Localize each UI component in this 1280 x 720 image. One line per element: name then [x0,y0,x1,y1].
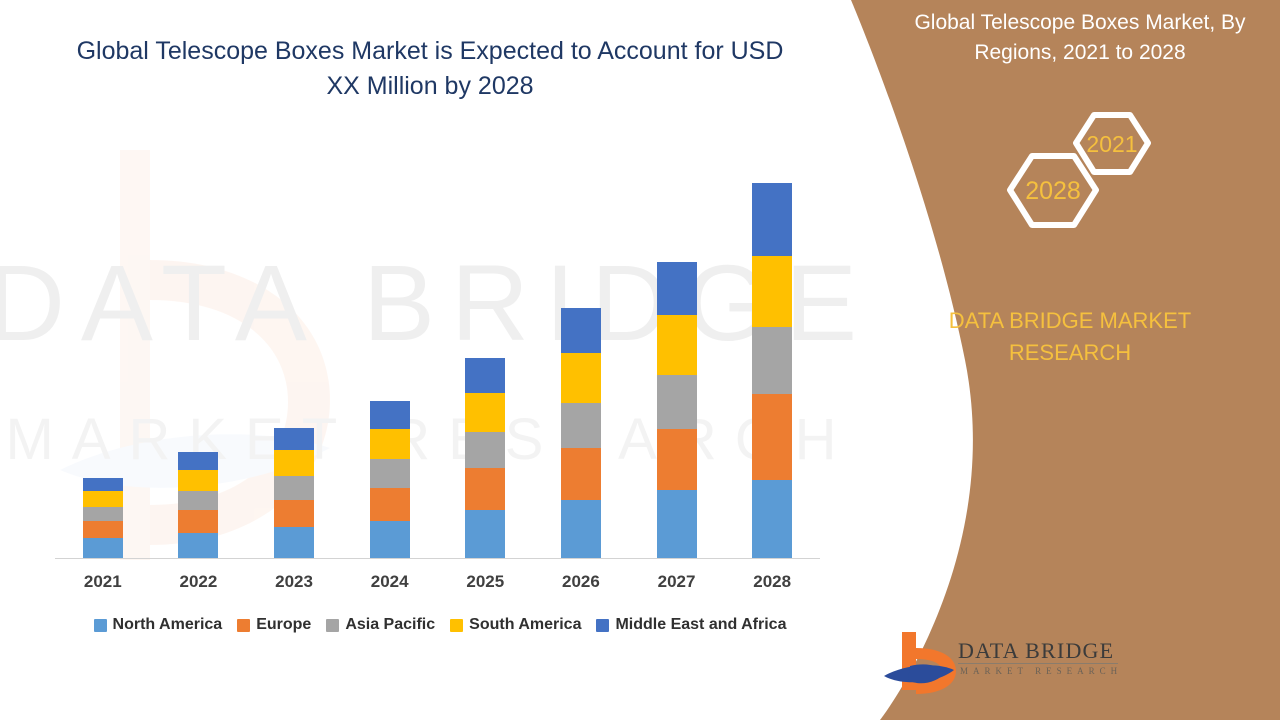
bar-segment [83,491,123,507]
bar-segment [657,490,697,558]
bar-column [342,150,437,558]
legend-label: Middle East and Africa [615,616,786,634]
legend-item[interactable]: South America [450,616,581,634]
bar-column [55,150,150,558]
bar-segment [752,327,792,394]
x-axis-label: 2024 [342,572,437,592]
bar-segment [657,429,697,490]
x-axis-label: 2023 [247,572,342,592]
bar-segment [561,448,601,500]
bar-column [629,150,724,558]
bar-segment [370,488,410,521]
legend-swatch-icon [596,619,609,632]
x-axis-label: 2022 [151,572,246,592]
legend-label: South America [469,616,581,634]
legend-swatch-icon [237,619,250,632]
bar-segment [465,510,505,558]
bar-segment [83,478,123,491]
legend-label: North America [113,616,223,634]
bar-segment [561,308,601,353]
bar-segment [561,500,601,558]
stacked-bar-2023 [274,428,314,558]
bar-segment [370,401,410,428]
bar-segment [178,510,218,533]
bar-segment [657,315,697,375]
bar-segment [83,521,123,538]
bar-column [533,150,628,558]
x-axis-label: 2028 [725,572,820,592]
stacked-bar-2027 [657,262,697,558]
bar-segment [465,432,505,469]
right-panel-title: Global Telescope Boxes Market, By Region… [880,0,1280,69]
bar-segment [274,428,314,451]
bar-column [247,150,342,558]
legend-item[interactable]: Asia Pacific [326,616,435,634]
hexagon-2021-label: 2021 [1086,131,1137,157]
bar-column [151,150,246,558]
bar-segment [370,459,410,488]
bar-segment [752,183,792,256]
stacked-bar-2024 [370,401,410,558]
bar-segment [752,256,792,327]
x-axis-label: 2025 [438,572,533,592]
legend-label: Asia Pacific [345,616,435,634]
x-axis-labels: 20212022202320242025202620272028 [55,572,820,592]
x-axis-label: 2026 [533,572,628,592]
bar-segment [657,375,697,429]
bar-segment [274,527,314,559]
bar-segment [178,470,218,491]
bar-segment [465,468,505,509]
bar-segment [561,353,601,403]
x-axis-label: 2021 [55,572,150,592]
legend-swatch-icon [450,619,463,632]
bar-segment [370,521,410,558]
bar-segment [657,262,697,315]
data-bridge-logo: DATA BRIDGE MARKET RESEARCH [880,628,1130,704]
hexagon-2028-label: 2028 [1025,177,1081,205]
stacked-bar-2021 [83,478,123,558]
bar-segment [178,452,218,470]
slide-canvas: DATA BRIDGE MARKET RESEARCH Global Teles… [0,0,1280,720]
chart-panel: Global Telescope Boxes Market is Expecte… [0,0,860,720]
chart-legend: North AmericaEuropeAsia PacificSouth Ame… [55,616,825,634]
bar-column [725,150,820,558]
bar-segment [274,500,314,527]
bar-segment [178,533,218,558]
brand-text: DATA BRIDGE MARKET RESEARCH [890,305,1250,369]
bar-column [438,150,533,558]
stacked-bar-group [55,150,820,558]
bar-segment [752,394,792,480]
bar-segment [370,429,410,459]
stacked-bar-2025 [465,358,505,558]
legend-swatch-icon [326,619,339,632]
x-axis-line [55,558,820,559]
bar-segment [178,491,218,510]
logo-name: DATA BRIDGE [958,638,1114,664]
bar-segment [465,358,505,393]
bar-segment [274,450,314,476]
chart-title: Global Telescope Boxes Market is Expecte… [60,34,800,103]
legend-label: Europe [256,616,311,634]
hexagon-group: 2028 2021 [970,108,1190,288]
stacked-bar-2026 [561,308,601,558]
bar-segment [561,403,601,448]
bar-segment [83,507,123,521]
legend-item[interactable]: Europe [237,616,311,634]
legend-item[interactable]: Middle East and Africa [596,616,786,634]
bar-segment [465,393,505,432]
stacked-bar-2028 [752,183,792,558]
logo-subtitle: MARKET RESEARCH [960,666,1122,676]
legend-swatch-icon [94,619,107,632]
bar-segment [274,476,314,499]
legend-item[interactable]: North America [94,616,223,634]
bar-segment [83,538,123,558]
x-axis-label: 2027 [629,572,724,592]
stacked-bar-2022 [178,452,218,558]
bar-segment [752,480,792,558]
